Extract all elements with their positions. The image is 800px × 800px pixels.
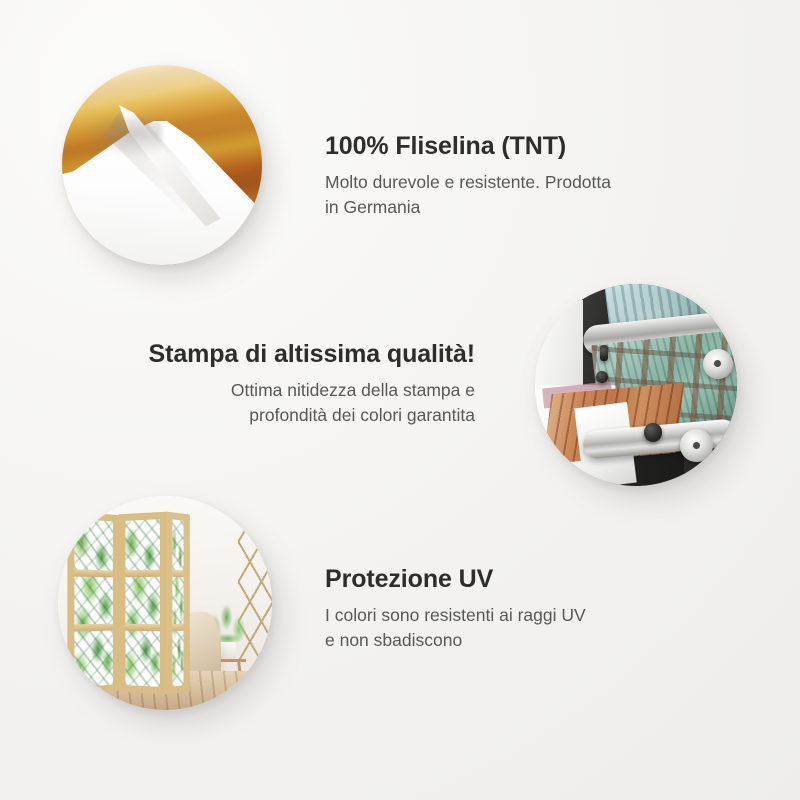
feature-title-fliselina: 100% Fliselina (TNT)	[325, 132, 725, 161]
divider-panel-3	[166, 512, 190, 695]
feature-image-fliselina	[62, 65, 262, 265]
feature-desc-line1-protezione-uv: I colori sono resistenti ai raggi UV	[325, 603, 725, 628]
printer-end-cap-top	[703, 349, 733, 379]
printer-lever	[600, 345, 608, 361]
feature-infographic: 100% Fliselina (TNT) Molto durevole e re…	[0, 0, 800, 800]
feature-desc-line2-fliselina: in Germania	[325, 195, 725, 220]
feature-image-protezione-uv	[58, 496, 272, 710]
printer-end-cap-bottom	[680, 429, 712, 461]
feature-text-protezione-uv: Protezione UV I colori sono resistenti a…	[325, 565, 725, 652]
feature-title-protezione-uv: Protezione UV	[325, 565, 725, 594]
feature-title-stampa-qualita: Stampa di altissima qualità!	[75, 340, 475, 369]
feature-text-stampa-qualita: Stampa di altissima qualità! Ottima niti…	[75, 340, 475, 427]
divider-panel-2	[119, 512, 167, 694]
feature-desc-line2-stampa-qualita: profondità dei colori garantita	[75, 403, 475, 428]
peeling-wallpaper-illustration	[62, 65, 262, 265]
curl-tip-shadow	[82, 117, 162, 157]
room-divider-illustration	[58, 496, 272, 710]
divider-panel-1	[67, 511, 118, 695]
feature-image-stampa-qualita	[535, 284, 737, 486]
feature-desc-line1-fliselina: Molto durevole e resistente. Prodotta	[325, 170, 725, 195]
feature-desc-line2-protezione-uv: e non sbadiscono	[325, 628, 725, 653]
feature-text-fliselina: 100% Fliselina (TNT) Molto durevole e re…	[325, 132, 725, 219]
printer-knob-large	[644, 423, 662, 441]
printer-illustration	[535, 284, 737, 486]
feature-desc-line1-stampa-qualita: Ottima nitidezza della stampa e	[75, 378, 475, 403]
printer-knob-small	[596, 371, 608, 383]
